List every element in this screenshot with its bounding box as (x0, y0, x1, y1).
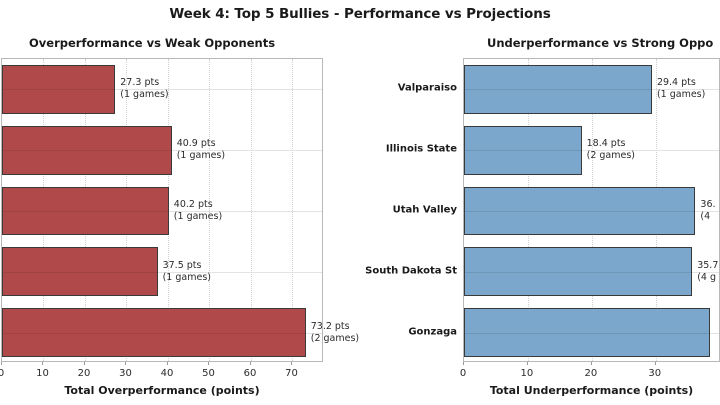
bar[interactable] (464, 308, 710, 357)
x-tick-label: 70 (285, 368, 298, 379)
x-tick-label: 10 (36, 368, 49, 379)
x-tick-label: 20 (584, 368, 597, 379)
x-tick-mark (125, 362, 126, 365)
bar[interactable] (2, 126, 172, 175)
bar-games-text: (2 games) (311, 333, 359, 345)
x-tick-mark (84, 362, 85, 365)
bar-center-line (465, 150, 581, 151)
bar[interactable] (2, 308, 306, 357)
x-tick-label: 30 (648, 368, 661, 379)
bar-center-line (465, 89, 651, 90)
category-label: Valparaiso (398, 83, 457, 94)
bar[interactable] (464, 65, 652, 114)
bar-value-text: 29.4 pts (657, 77, 705, 89)
bar-value-annotation: 36.(4 (700, 199, 715, 223)
bar-value-text: 40.9 pts (177, 138, 225, 150)
bar[interactable] (2, 65, 115, 114)
x-axis-title: Total Overperformance (points) (64, 384, 259, 397)
bar[interactable] (464, 126, 582, 175)
category-label: Gonzaga (408, 326, 457, 337)
x-tick-label: 10 (521, 368, 534, 379)
x-tick-mark (250, 362, 251, 365)
bar-center-line (3, 272, 157, 273)
x-tick-mark (42, 362, 43, 365)
bar[interactable] (2, 187, 169, 236)
bar-value-annotation: 35.7(4 g (697, 260, 718, 284)
bar-value-annotation: 29.4 pts(1 games) (657, 77, 705, 101)
category-label: South Dakota St (365, 265, 457, 276)
bar[interactable] (2, 247, 158, 296)
category-label: Utah Valley (393, 205, 457, 216)
plot-area-overperformance: 27.3 pts(1 games)40.9 pts(1 games)40.2 p… (1, 58, 323, 362)
subplot-title-underperformance: Underperformance vs Strong Oppo (487, 36, 713, 50)
x-tick-label: 20 (78, 368, 91, 379)
bar-games-text: (4 (700, 211, 715, 223)
x-tick-mark (591, 362, 592, 365)
bar[interactable] (464, 187, 695, 236)
bar-games-text: (4 g (697, 272, 718, 284)
x-tick-mark (463, 362, 464, 365)
x-tick-mark (527, 362, 528, 365)
x-tick-label: 40 (161, 368, 174, 379)
x-tick-label: 60 (244, 368, 257, 379)
bar-center-line (465, 211, 694, 212)
bar-value-annotation: 27.3 pts(1 games) (120, 77, 168, 101)
x-tick-mark (1, 362, 2, 365)
bar-value-annotation: 40.9 pts(1 games) (177, 138, 225, 162)
bar-value-text: 40.2 pts (174, 199, 222, 211)
bar-value-text: 18.4 pts (587, 138, 635, 150)
x-tick-label: 30 (119, 368, 132, 379)
bar-games-text: (2 games) (587, 150, 635, 162)
bar-value-annotation: 73.2 pts(2 games) (311, 321, 359, 345)
bar-value-text: 36. (700, 199, 715, 211)
category-label: Illinois State (386, 144, 457, 155)
x-tick-label: 50 (202, 368, 215, 379)
bar-center-line (465, 272, 691, 273)
bar-value-text: 27.3 pts (120, 77, 168, 89)
bar-value-annotation: 40.2 pts(1 games) (174, 199, 222, 223)
bar-games-text: (1 games) (120, 89, 168, 101)
bar-center-line (3, 211, 168, 212)
bar-center-line (3, 333, 305, 334)
subplot-title-overperformance: Overperformance vs Weak Opponents (29, 36, 275, 50)
bar-center-line (465, 333, 709, 334)
x-tick-label: 0 (460, 368, 466, 379)
bar-games-text: (1 games) (174, 211, 222, 223)
bar-value-annotation: 18.4 pts(2 games) (587, 138, 635, 162)
bar-games-text: (1 games) (657, 89, 705, 101)
bar[interactable] (464, 247, 692, 296)
bar-value-text: 35.7 (697, 260, 718, 272)
plot-area-underperformance: 29.4 pts(1 games)18.4 pts(2 games)36.(4 … (463, 58, 720, 362)
x-tick-mark (167, 362, 168, 365)
bar-center-line (3, 150, 171, 151)
x-tick-mark (655, 362, 656, 365)
chart-panel-underperformance: Underperformance vs Strong Oppo 29.4 pts… (360, 0, 720, 405)
bar-value-text: 73.2 pts (311, 321, 359, 333)
bar-center-line (3, 89, 114, 90)
bar-games-text: (1 games) (177, 150, 225, 162)
bar-value-text: 37.5 pts (163, 260, 211, 272)
x-axis-title: Total Underperformance (points) (490, 384, 693, 397)
bar-games-text: (1 games) (163, 272, 211, 284)
x-tick-label: 0 (0, 368, 4, 379)
chart-panel-overperformance: Overperformance vs Weak Opponents 27.3 p… (0, 0, 360, 405)
x-tick-mark (291, 362, 292, 365)
x-tick-mark (208, 362, 209, 365)
bar-value-annotation: 37.5 pts(1 games) (163, 260, 211, 284)
